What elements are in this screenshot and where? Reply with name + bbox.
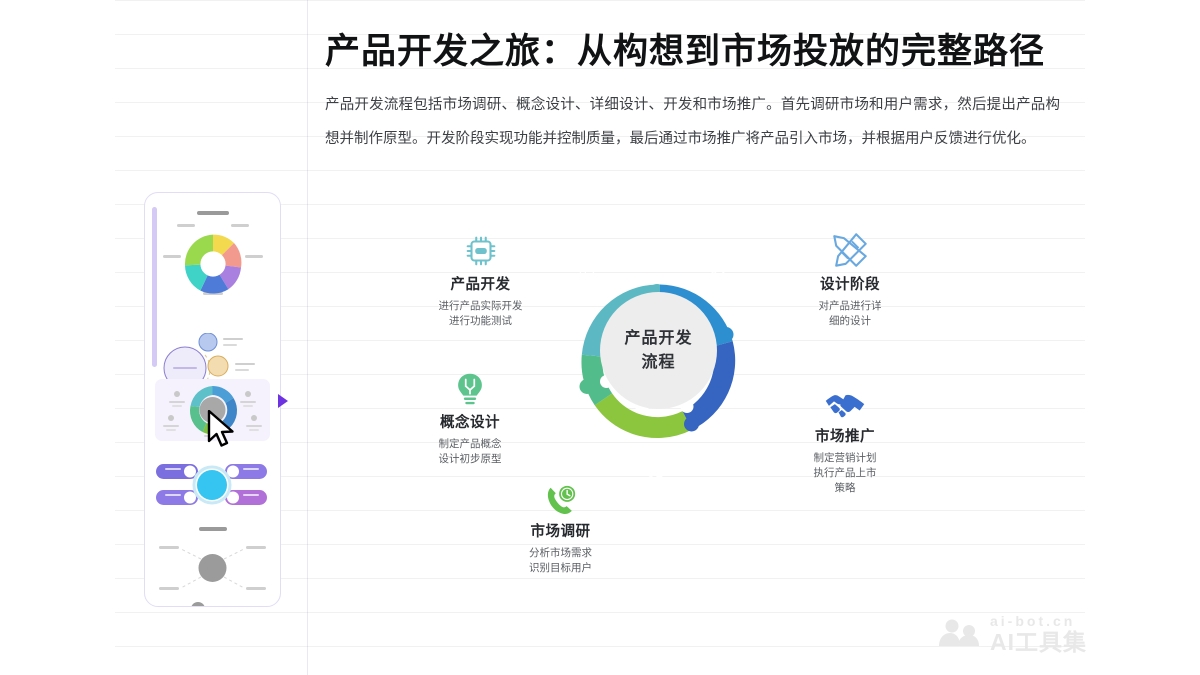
page-description: 产品开发流程包括市场调研、概念设计、详细设计、开发和市场推广。首先调研市场和用户… (325, 88, 1060, 156)
node-desc-line-1: 制定营销计划 (785, 451, 905, 466)
segment-number-02: 02 (543, 388, 560, 404)
segment-number-01: 01 (647, 464, 664, 480)
node-desc-line-2: 设计初步原型 (405, 452, 535, 467)
thumb-title-bar (197, 211, 229, 215)
node-title: 设计阶段 (790, 276, 910, 296)
phone-clock-icon (544, 483, 578, 517)
node-desc-line-2: 识别目标用户 (498, 561, 623, 576)
radial-spokes-icon (155, 537, 270, 603)
node-title: 市场推广 (785, 428, 905, 448)
gear-wheel-icon (178, 229, 248, 299)
node-market-research[interactable]: 市场调研 分析市场需求 识别目标用户 (498, 483, 623, 576)
donut-cycle-icon (155, 379, 270, 441)
node-desc-line-1: 对产品进行详 (790, 299, 910, 314)
list-item[interactable] (155, 527, 270, 597)
node-title: 概念设计 (405, 414, 535, 434)
thumb-title-bar (199, 527, 227, 531)
watermark-logo-icon (938, 618, 982, 650)
thumb-line (245, 255, 263, 258)
lightbulb-icon (453, 370, 487, 408)
segment-number-04: 04 (710, 268, 727, 284)
node-desc-line-1: 分析市场需求 (498, 546, 623, 561)
center-line-1: 产品开发 (624, 327, 692, 350)
node-market-promotion[interactable]: 市场推广 制定营销计划 执行产品上市 策略 (785, 388, 905, 496)
node-desc-line-2: 进行功能测试 (408, 314, 553, 329)
thumb-line (177, 224, 195, 227)
node-desc-line-2: 执行产品上市 (785, 466, 905, 481)
node-desc-line-1: 制定产品概念 (405, 437, 535, 452)
watermark-domain: ai-bot.cn (990, 614, 1087, 628)
header-block: 产品开发之旅：从构想到市场投放的完整路径 产品开发流程包括市场调研、概念设计、详… (325, 30, 1065, 156)
node-product-development[interactable]: 产品开发 进行产品实际开发 进行功能测试 (408, 232, 553, 329)
chip-icon (462, 232, 500, 270)
node-desc-line-2: 细的设计 (790, 314, 910, 329)
slide-canvas: 产品开发之旅：从构想到市场投放的完整路径 产品开发流程包括市场调研、概念设计、详… (0, 0, 1200, 675)
thumb-line (231, 224, 249, 227)
list-item[interactable] (155, 601, 270, 607)
vertical-guide-line (307, 0, 308, 675)
donut-center-label: 产品开发 流程 (600, 292, 717, 409)
node-title: 市场调研 (498, 523, 623, 543)
handshake-icon (823, 388, 867, 422)
list-item-selected[interactable] (155, 379, 270, 441)
bullet-list-icon (155, 601, 270, 607)
pill-rows-icon (155, 458, 270, 516)
center-line-2: 流程 (641, 351, 675, 374)
node-title: 产品开发 (408, 276, 553, 296)
list-item[interactable] (155, 207, 270, 322)
watermark: ai-bot.cn AI工具集 (938, 608, 1098, 660)
page-title: 产品开发之旅：从构想到市场投放的完整路径 (325, 30, 1065, 74)
node-desc-line-1: 进行产品实际开发 (408, 299, 553, 314)
panel-collapse-triangle-icon[interactable] (277, 393, 289, 409)
segment-number-05: 05 (748, 386, 765, 402)
template-thumbnail-panel[interactable] (144, 192, 281, 607)
list-item[interactable] (155, 458, 270, 518)
node-desc-line-3: 策略 (785, 481, 905, 496)
segment-number-03: 03 (579, 266, 596, 282)
watermark-brand: AI工具集 (990, 631, 1087, 654)
node-concept-design[interactable]: 概念设计 制定产品概念 设计初步原型 (405, 370, 535, 467)
node-design-phase[interactable]: 设计阶段 对产品进行详 细的设计 (790, 230, 910, 329)
pencil-ruler-icon (830, 230, 870, 270)
